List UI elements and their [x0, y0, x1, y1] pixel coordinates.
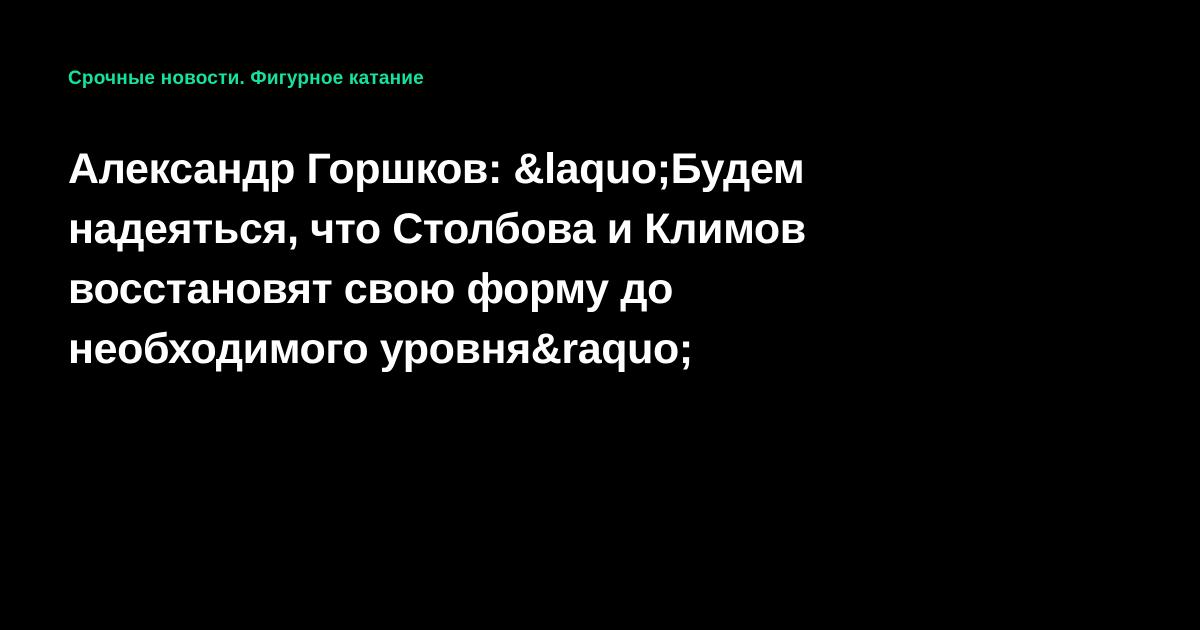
- news-share-card: Срочные новости. Фигурное катание Алекса…: [0, 0, 1200, 630]
- card-content: Срочные новости. Фигурное катание Алекса…: [0, 0, 1200, 630]
- page-title: Александр Горшков: &laquo;Будем надеятьс…: [68, 139, 973, 379]
- kicker-label: Срочные новости. Фигурное катание: [68, 68, 1132, 91]
- headline-text: Александр Горшков: &laquo;Будем надеятьс…: [68, 145, 806, 373]
